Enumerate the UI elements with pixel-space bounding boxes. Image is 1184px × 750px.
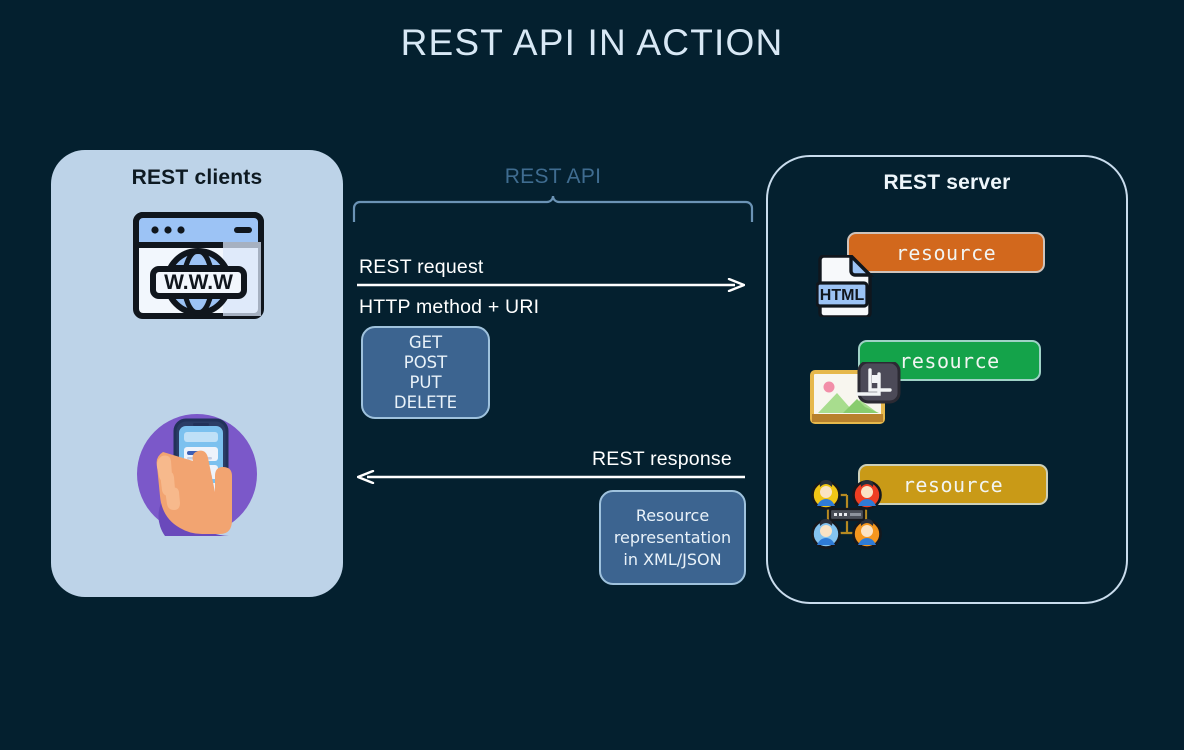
diagram-canvas: REST API IN ACTION REST clients W.W.W: [0, 0, 1184, 750]
http-method-post: POST: [404, 353, 448, 372]
rest-request-arrow: [357, 278, 745, 292]
browser-www-label: W.W.W: [164, 271, 233, 294]
users-network-icon: [810, 479, 885, 549]
http-methods-box: GET POST PUT DELETE: [361, 326, 490, 419]
representation-line-3: in XML/JSON: [623, 549, 721, 571]
http-method-delete: DELETE: [394, 393, 457, 412]
rest-response-arrow: [357, 470, 745, 484]
rest-clients-title: REST clients: [51, 166, 343, 190]
rest-server-title: REST server: [768, 171, 1126, 195]
rest-response-label: REST response: [592, 448, 732, 471]
rest-api-label: REST API: [453, 165, 653, 189]
rest-clients-panel: REST clients W.W.W: [51, 150, 343, 597]
rest-api-brace: [352, 196, 754, 222]
mobile-phone-in-hand-icon: [135, 412, 259, 536]
resource-pill-users[interactable]: resource: [858, 464, 1048, 505]
resource-representation-box: Resource representation in XML/JSON: [599, 490, 746, 585]
rest-server-panel: REST server resource HTML resource: [766, 155, 1128, 604]
http-method-put: PUT: [409, 373, 441, 392]
browser-www-icon: W.W.W: [133, 212, 264, 319]
resource-pill-html[interactable]: resource: [847, 232, 1045, 273]
html-file-label: HTML: [820, 287, 865, 304]
representation-line-2: representation: [614, 527, 731, 549]
rest-request-label: REST request: [359, 256, 484, 279]
image-crop-icon: [810, 362, 905, 427]
html-file-icon: HTML: [816, 255, 874, 317]
page-title: REST API IN ACTION: [0, 22, 1184, 64]
http-method-uri-label: HTTP method + URI: [359, 296, 539, 319]
http-method-get: GET: [409, 333, 442, 352]
representation-line-1: Resource: [636, 505, 709, 527]
